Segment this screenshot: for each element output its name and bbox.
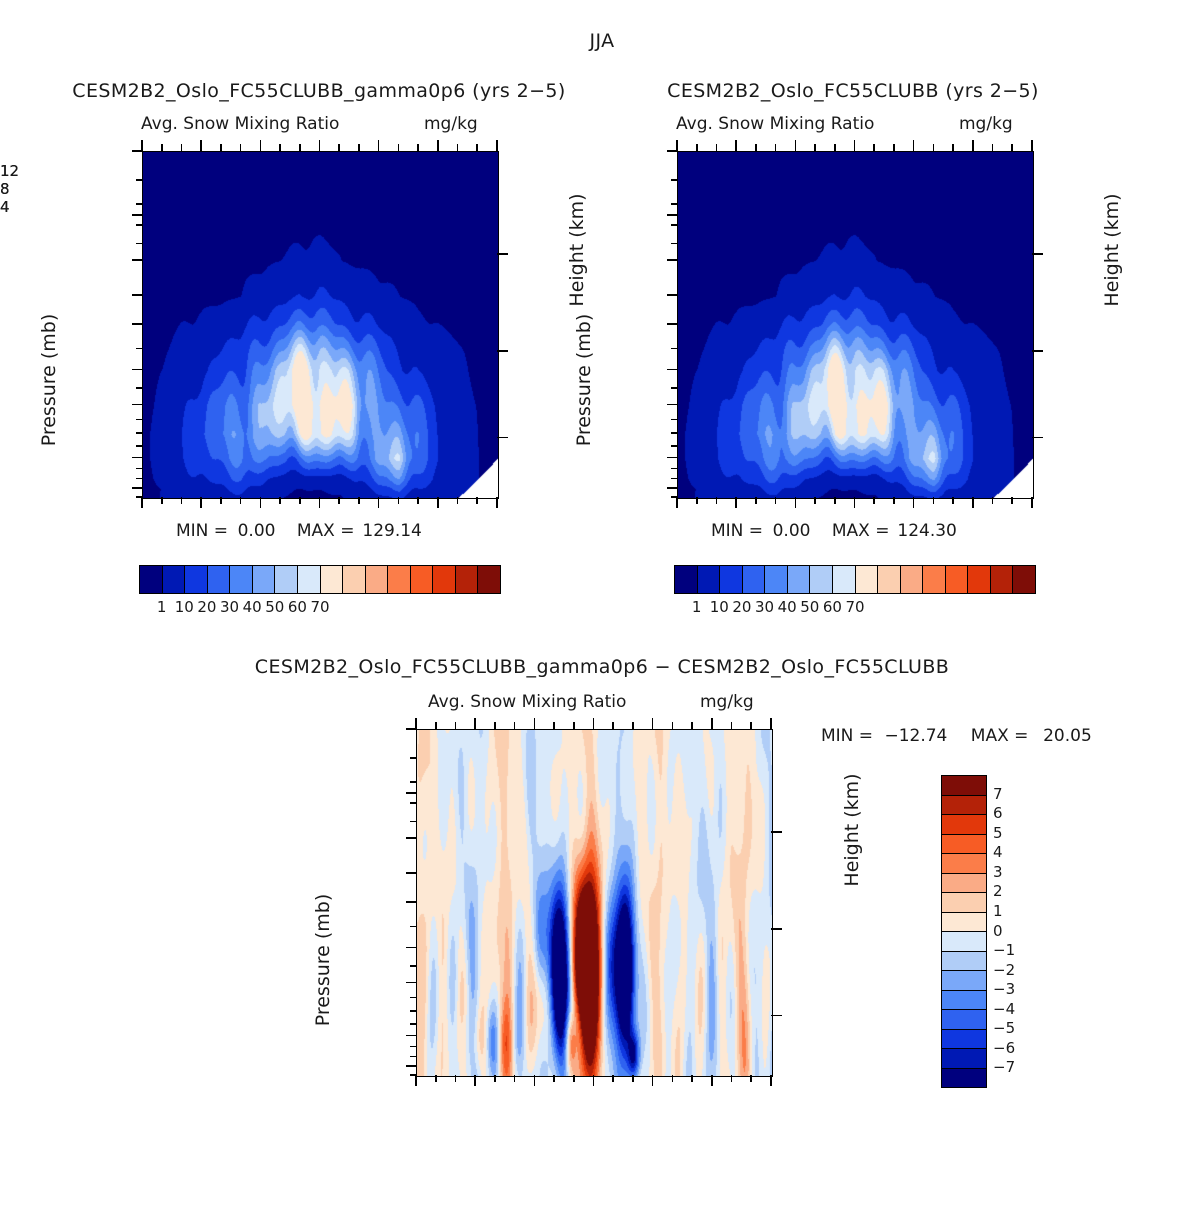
colorbar-cell <box>810 566 833 593</box>
colorbar-cell <box>343 566 366 593</box>
max-label-difference: MAX = <box>971 726 1029 746</box>
colorbar-difference[interactable] <box>941 775 987 1088</box>
colorbar-cell <box>946 566 969 593</box>
y2-axis-label-top-left: Height (km) <box>566 193 588 306</box>
colorbar-cell <box>942 796 986 816</box>
colorbar-top-right[interactable] <box>674 565 1036 594</box>
panel-title-top-left: CESM2B2_Oslo_FC55CLUBB_gamma0p6 (yrs 2−5… <box>72 80 565 102</box>
colorbar-tick-label: 1 <box>993 902 1003 920</box>
colorbar-cell <box>942 991 986 1011</box>
colorbar-tick-label: 70 <box>845 598 864 616</box>
colorbar-tick-label: −1 <box>993 941 1015 959</box>
colorbar-cell <box>991 566 1014 593</box>
colorbar-cell <box>298 566 321 593</box>
season-title: JJA <box>589 30 614 52</box>
contour-field-difference <box>417 730 772 1076</box>
colorbar-cell <box>942 835 986 855</box>
colorbar-cell <box>878 566 901 593</box>
colorbar-cell <box>942 952 986 972</box>
colorbar-cell <box>833 566 856 593</box>
colorbar-cell <box>765 566 788 593</box>
colorbar-cell <box>253 566 276 593</box>
y-axis-label-top-left: Pressure (mb) <box>38 314 60 447</box>
units-label-top-left: mg/kg <box>424 114 478 134</box>
min-label-top-left: MIN = <box>176 521 228 541</box>
colorbar-tick-label: 7 <box>993 785 1003 803</box>
minmax-difference: MIN = −12.74 MAX = 20.05 <box>821 726 1092 746</box>
colorbar-tick-label: 60 <box>288 598 307 616</box>
colorbar-cell <box>942 1010 986 1030</box>
colorbar-tick-label: 60 <box>823 598 842 616</box>
colorbar-tick-label: −3 <box>993 980 1015 998</box>
colorbar-cell <box>675 566 698 593</box>
colorbar-cell <box>942 1049 986 1069</box>
colorbar-cell <box>923 566 946 593</box>
colorbar-cell <box>411 566 434 593</box>
max-value-top-left: 129.14 <box>360 521 422 541</box>
contour-field-top-right <box>678 152 1033 498</box>
colorbar-cell <box>942 913 986 933</box>
contour-plot-top-right <box>677 151 1034 499</box>
colorbar-tick-label: 20 <box>732 598 751 616</box>
colorbar-cell <box>788 566 811 593</box>
variable-label-top-right: Avg. Snow Mixing Ratio <box>676 114 874 134</box>
colorbar-tick-label: 1 <box>692 598 702 616</box>
colorbar-cell <box>163 566 186 593</box>
colorbar-cell <box>456 566 479 593</box>
colorbar-cell <box>942 1069 986 1088</box>
colorbar-tick-label: 5 <box>993 824 1003 842</box>
max-value-difference: 20.05 <box>1034 726 1092 746</box>
min-label-difference: MIN = <box>821 726 873 746</box>
colorbar-cell <box>140 566 163 593</box>
colorbar-tick-label: −7 <box>993 1058 1015 1076</box>
colorbar-cell <box>366 566 389 593</box>
colorbar-tick-label: 40 <box>778 598 797 616</box>
colorbar-cell <box>185 566 208 593</box>
colorbar-cell <box>942 815 986 835</box>
colorbar-cell <box>321 566 344 593</box>
colorbar-tick-label: 20 <box>197 598 216 616</box>
units-label-difference: mg/kg <box>700 692 754 712</box>
colorbar-tick-label: 40 <box>243 598 262 616</box>
y2-axis-label-top-right: Height (km) <box>1101 193 1123 306</box>
colorbar-top-left[interactable] <box>139 565 501 594</box>
max-value-top-right: 124.30 <box>895 521 957 541</box>
variable-label-difference: Avg. Snow Mixing Ratio <box>428 692 626 712</box>
minmax-top-right: MIN = 0.00 MAX = 124.30 <box>711 521 957 541</box>
min-label-top-right: MIN = <box>711 521 763 541</box>
colorbar-cell <box>942 874 986 894</box>
colorbar-cell <box>942 776 986 796</box>
colorbar-cell <box>478 566 500 593</box>
colorbar-cell <box>942 932 986 952</box>
y-axis-label-difference: Pressure (mb) <box>312 894 334 1027</box>
colorbar-tick-label: 3 <box>993 863 1003 881</box>
panel-title-top-right: CESM2B2_Oslo_FC55CLUBB (yrs 2−5) <box>667 80 1039 102</box>
colorbar-cell <box>275 566 298 593</box>
colorbar-cell <box>208 566 231 593</box>
colorbar-tick-label: −2 <box>993 961 1015 979</box>
colorbar-cell <box>698 566 721 593</box>
max-label-top-left: MAX = <box>297 521 355 541</box>
colorbar-tick-label: −6 <box>993 1039 1015 1057</box>
colorbar-tick-label: 50 <box>800 598 819 616</box>
min-value-top-right: 0.00 <box>768 521 810 541</box>
colorbar-tick-label: 10 <box>710 598 729 616</box>
y2-axis-label-difference: Height (km) <box>841 773 863 886</box>
colorbar-tick-label: 10 <box>175 598 194 616</box>
colorbar-tick-label: 30 <box>220 598 239 616</box>
panel-title-difference: CESM2B2_Oslo_FC55CLUBB_gamma0p6 − CESM2B… <box>255 656 949 678</box>
colorbar-cell <box>942 971 986 991</box>
colorbar-cell <box>433 566 456 593</box>
contour-canvas <box>678 152 1033 498</box>
colorbar-cell <box>901 566 924 593</box>
colorbar-tick-label: 50 <box>265 598 284 616</box>
colorbar-cell <box>942 854 986 874</box>
colorbar-tick-label: 4 <box>993 843 1003 861</box>
minmax-top-left: MIN = 0.00 MAX = 129.14 <box>176 521 422 541</box>
colorbar-cell <box>942 1030 986 1050</box>
colorbar-cell <box>720 566 743 593</box>
colorbar-cell <box>1013 566 1035 593</box>
colorbar-tick-label: −4 <box>993 1000 1015 1018</box>
colorbar-tick-label: 30 <box>755 598 774 616</box>
colorbar-cell <box>743 566 766 593</box>
colorbar-cell <box>230 566 253 593</box>
colorbar-tick-label: 70 <box>310 598 329 616</box>
contour-plot-top-left <box>142 151 499 499</box>
min-value-top-left: 0.00 <box>233 521 275 541</box>
colorbar-tick-label: 1 <box>157 598 167 616</box>
colorbar-tick-label: −5 <box>993 1019 1015 1037</box>
contour-canvas <box>417 730 772 1076</box>
max-label-top-right: MAX = <box>832 521 890 541</box>
colorbar-cell <box>856 566 879 593</box>
min-value-difference: −12.74 <box>884 726 947 746</box>
colorbar-cell <box>968 566 991 593</box>
contour-plot-difference <box>416 729 773 1077</box>
colorbar-cell <box>942 893 986 913</box>
colorbar-cell <box>388 566 411 593</box>
units-label-top-right: mg/kg <box>959 114 1013 134</box>
colorbar-tick-label: 2 <box>993 882 1003 900</box>
contour-field-top-left <box>143 152 498 498</box>
colorbar-tick-label: 6 <box>993 804 1003 822</box>
variable-label-top-left: Avg. Snow Mixing Ratio <box>141 114 339 134</box>
y-axis-label-top-right: Pressure (mb) <box>573 314 595 447</box>
contour-canvas <box>143 152 498 498</box>
colorbar-tick-label: 0 <box>993 922 1003 940</box>
